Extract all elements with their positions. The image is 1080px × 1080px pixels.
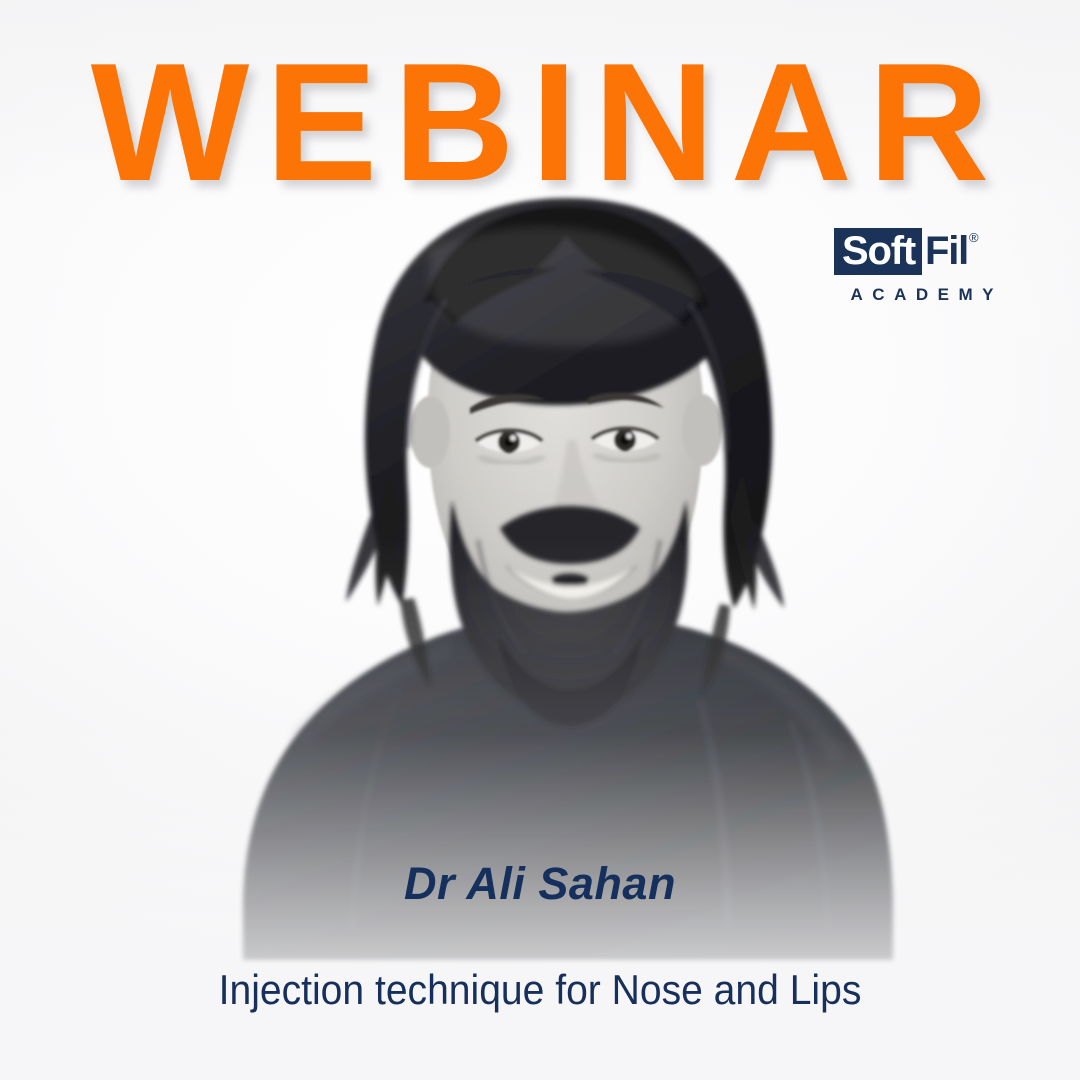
page-title: WEBINAR: [0, 34, 1080, 210]
softfil-academy-logo: Soft Fil ® ACADEMY: [834, 228, 1014, 305]
webinar-subtitle: Injection technique for Nose and Lips: [38, 966, 1042, 1014]
logo-sub-label: ACADEMY: [834, 285, 1010, 305]
registered-trademark-icon: ®: [968, 228, 979, 244]
logo-mark-primary: Soft: [834, 228, 922, 275]
logo-wordmark: Soft Fil ®: [834, 228, 1014, 276]
speaker-name: Dr Ali Sahan: [0, 858, 1080, 910]
webinar-poster: WEBINAR Soft Fil ® ACADEMY Dr Ali Sahan …: [0, 0, 1080, 1080]
logo-mark-secondary: Fil: [922, 228, 968, 275]
